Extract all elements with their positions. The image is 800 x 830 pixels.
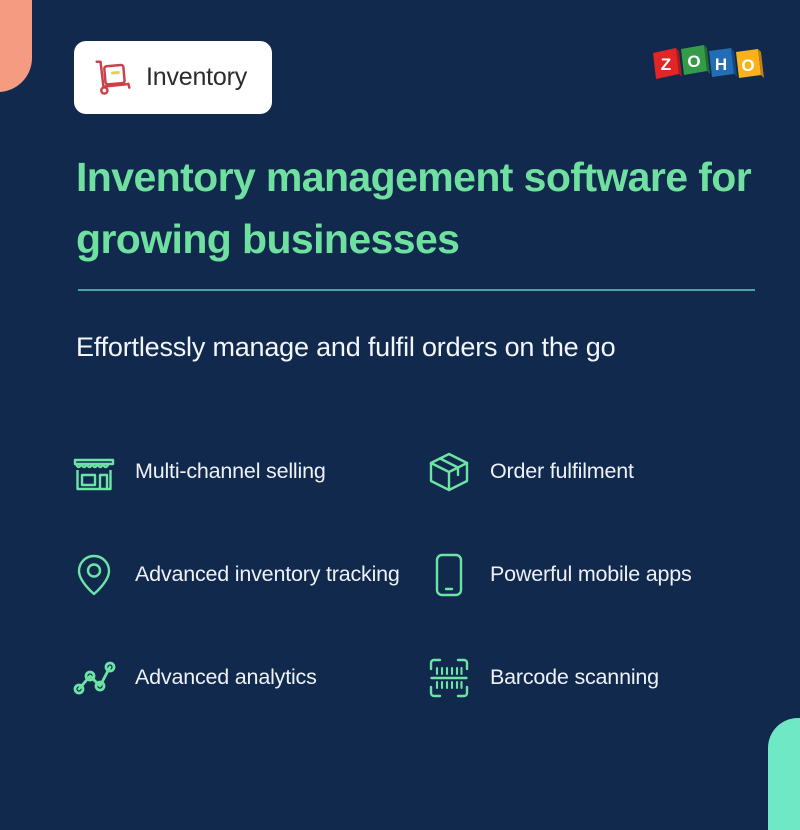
svg-text:O: O: [687, 52, 700, 71]
feature-label: Advanced inventory tracking: [135, 561, 400, 588]
svg-text:O: O: [741, 56, 754, 75]
header-bar: Inventory Z O H O: [0, 0, 800, 148]
corner-decoration-bottom-right: [768, 718, 800, 830]
product-badge-label: Inventory: [146, 63, 247, 92]
svg-text:Z: Z: [661, 55, 671, 74]
hand-truck-icon: [90, 55, 136, 101]
feature-item-barcode-scanning[interactable]: Barcode scanning: [425, 626, 770, 729]
line-chart-icon: [70, 654, 118, 702]
feature-item-powerful-mobile-apps[interactable]: Powerful mobile apps: [425, 523, 770, 626]
page-title: Inventory management software for growin…: [76, 146, 766, 270]
feature-item-multi-channel-selling[interactable]: Multi-channel selling: [70, 420, 415, 523]
storefront-icon: [70, 448, 118, 496]
product-badge[interactable]: Inventory: [74, 41, 272, 114]
feature-label: Barcode scanning: [490, 664, 659, 691]
feature-item-advanced-analytics[interactable]: Advanced analytics: [70, 626, 415, 729]
feature-list: Multi-channel selling Order fulfilment A…: [70, 420, 770, 729]
feature-label: Advanced analytics: [135, 664, 317, 691]
feature-item-order-fulfilment[interactable]: Order fulfilment: [425, 420, 770, 523]
svg-text:H: H: [715, 55, 727, 74]
barcode-scan-icon: [425, 654, 473, 702]
location-pin-icon: [70, 551, 118, 599]
page-subtitle: Effortlessly manage and fulfil orders on…: [76, 328, 776, 366]
feature-label: Multi-channel selling: [135, 458, 326, 485]
zoho-logo[interactable]: Z O H O: [650, 43, 764, 85]
feature-label: Order fulfilment: [490, 458, 634, 485]
package-box-icon: [425, 448, 473, 496]
section-divider: [78, 289, 755, 291]
feature-label: Powerful mobile apps: [490, 561, 692, 588]
feature-item-advanced-inventory-tracking[interactable]: Advanced inventory tracking: [70, 523, 415, 626]
mobile-phone-icon: [425, 551, 473, 599]
